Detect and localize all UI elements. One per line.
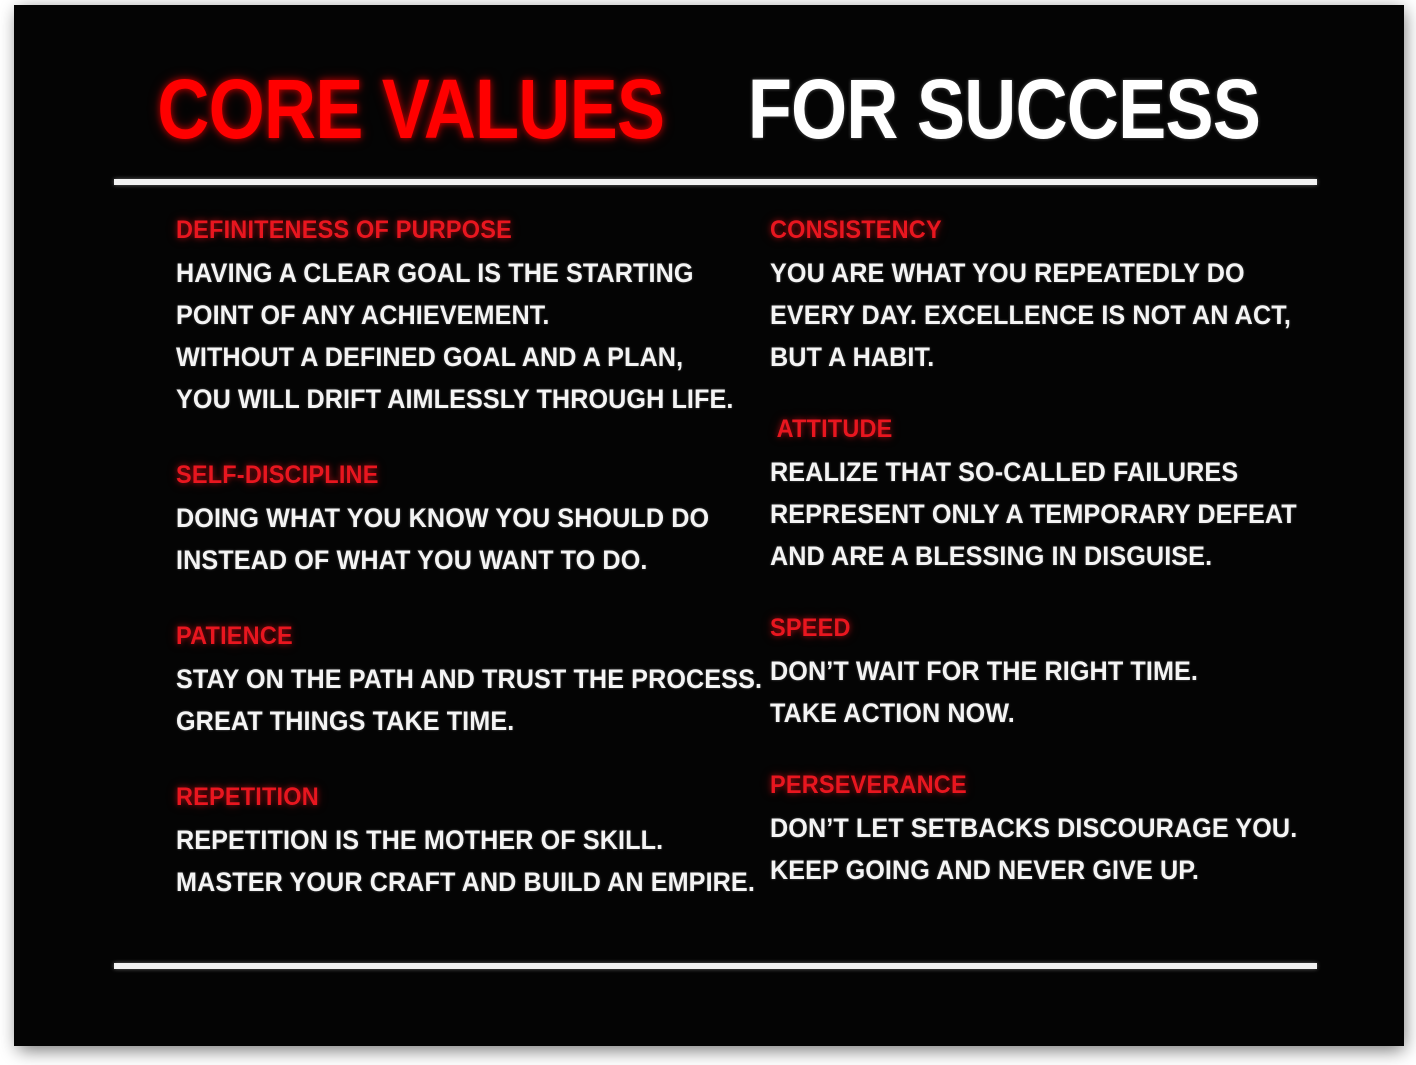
left-column: DEFINITENESS OF PURPOSEHAVING A CLEAR GO… <box>176 215 736 943</box>
value-body-line: KEEP GOING AND NEVER GIVE UP. <box>770 849 1264 891</box>
right-column: CONSISTENCYYOU ARE WHAT YOU REPEATEDLY D… <box>770 215 1290 927</box>
value-section: DEFINITENESS OF PURPOSEHAVING A CLEAR GO… <box>176 215 736 420</box>
value-body-line: HAVING A CLEAR GOAL IS THE STARTING <box>176 252 708 294</box>
value-body-line: YOU WILL DRIFT AIMLESSLY THROUGH LIFE. <box>176 378 708 420</box>
value-body-line: REALIZE THAT SO-CALLED FAILURES <box>770 451 1264 493</box>
value-section: CONSISTENCYYOU ARE WHAT YOU REPEATEDLY D… <box>770 215 1290 378</box>
top-divider-rule <box>114 179 1317 185</box>
value-heading: PERSEVERANCE <box>770 770 1259 800</box>
value-body-line: DOING WHAT YOU KNOW YOU SHOULD DO <box>176 497 708 539</box>
value-heading: SELF-DISCIPLINE <box>176 460 702 490</box>
value-body-line: TAKE ACTION NOW. <box>770 692 1264 734</box>
value-body-line: STAY ON THE PATH AND TRUST THE PROCESS. <box>176 658 708 700</box>
values-columns: DEFINITENESS OF PURPOSEHAVING A CLEAR GO… <box>14 215 1404 945</box>
value-body-line: AND ARE A BLESSING IN DISGUISE. <box>770 535 1264 577</box>
value-section: ATTITUDEREALIZE THAT SO-CALLED FAILURESR… <box>770 414 1290 577</box>
value-heading: SPEED <box>770 613 1259 643</box>
value-body-line: DON’T WAIT FOR THE RIGHT TIME. <box>770 650 1264 692</box>
value-section: SELF-DISCIPLINEDOING WHAT YOU KNOW YOU S… <box>176 460 736 581</box>
value-body-line: INSTEAD OF WHAT YOU WANT TO DO. <box>176 539 708 581</box>
value-body-line: YOU ARE WHAT YOU REPEATEDLY DO <box>770 252 1264 294</box>
value-section: PERSEVERANCEDON’T LET SETBACKS DISCOURAG… <box>770 770 1290 891</box>
value-heading: DEFINITENESS OF PURPOSE <box>176 215 702 245</box>
bottom-divider-rule <box>114 963 1317 969</box>
value-body-line: MASTER YOUR CRAFT AND BUILD AN EMPIRE. <box>176 861 708 903</box>
poster-page: CORE VALUES FOR SUCCESS DEFINITENESS OF … <box>0 0 1416 1065</box>
value-body-line: GREAT THINGS TAKE TIME. <box>176 700 708 742</box>
value-section: REPETITIONREPETITION IS THE MOTHER OF SK… <box>176 782 736 903</box>
value-section: PATIENCESTAY ON THE PATH AND TRUST THE P… <box>176 621 736 742</box>
value-body-line: REPETITION IS THE MOTHER OF SKILL. <box>176 819 708 861</box>
value-heading: CONSISTENCY <box>770 215 1259 245</box>
value-heading: ATTITUDE <box>770 414 1259 444</box>
value-body-line: BUT A HABIT. <box>770 336 1264 378</box>
value-body-line: POINT OF ANY ACHIEVEMENT. <box>176 294 708 336</box>
value-body-line: REPRESENT ONLY A TEMPORARY DEFEAT <box>770 493 1264 535</box>
poster-canvas: CORE VALUES FOR SUCCESS DEFINITENESS OF … <box>14 5 1404 1046</box>
page-title: CORE VALUES FOR SUCCESS <box>14 67 1404 151</box>
value-body-line: WITHOUT A DEFINED GOAL AND A PLAN, <box>176 336 708 378</box>
value-section: SPEEDDON’T WAIT FOR THE RIGHT TIME.TAKE … <box>770 613 1290 734</box>
title-red-part: CORE VALUES <box>158 67 665 151</box>
title-white-part: FOR SUCCESS <box>748 67 1260 151</box>
value-body-line: EVERY DAY. EXCELLENCE IS NOT AN ACT, <box>770 294 1264 336</box>
value-body-line: DON’T LET SETBACKS DISCOURAGE YOU. <box>770 807 1264 849</box>
value-heading: REPETITION <box>176 782 702 812</box>
value-heading: PATIENCE <box>176 621 702 651</box>
